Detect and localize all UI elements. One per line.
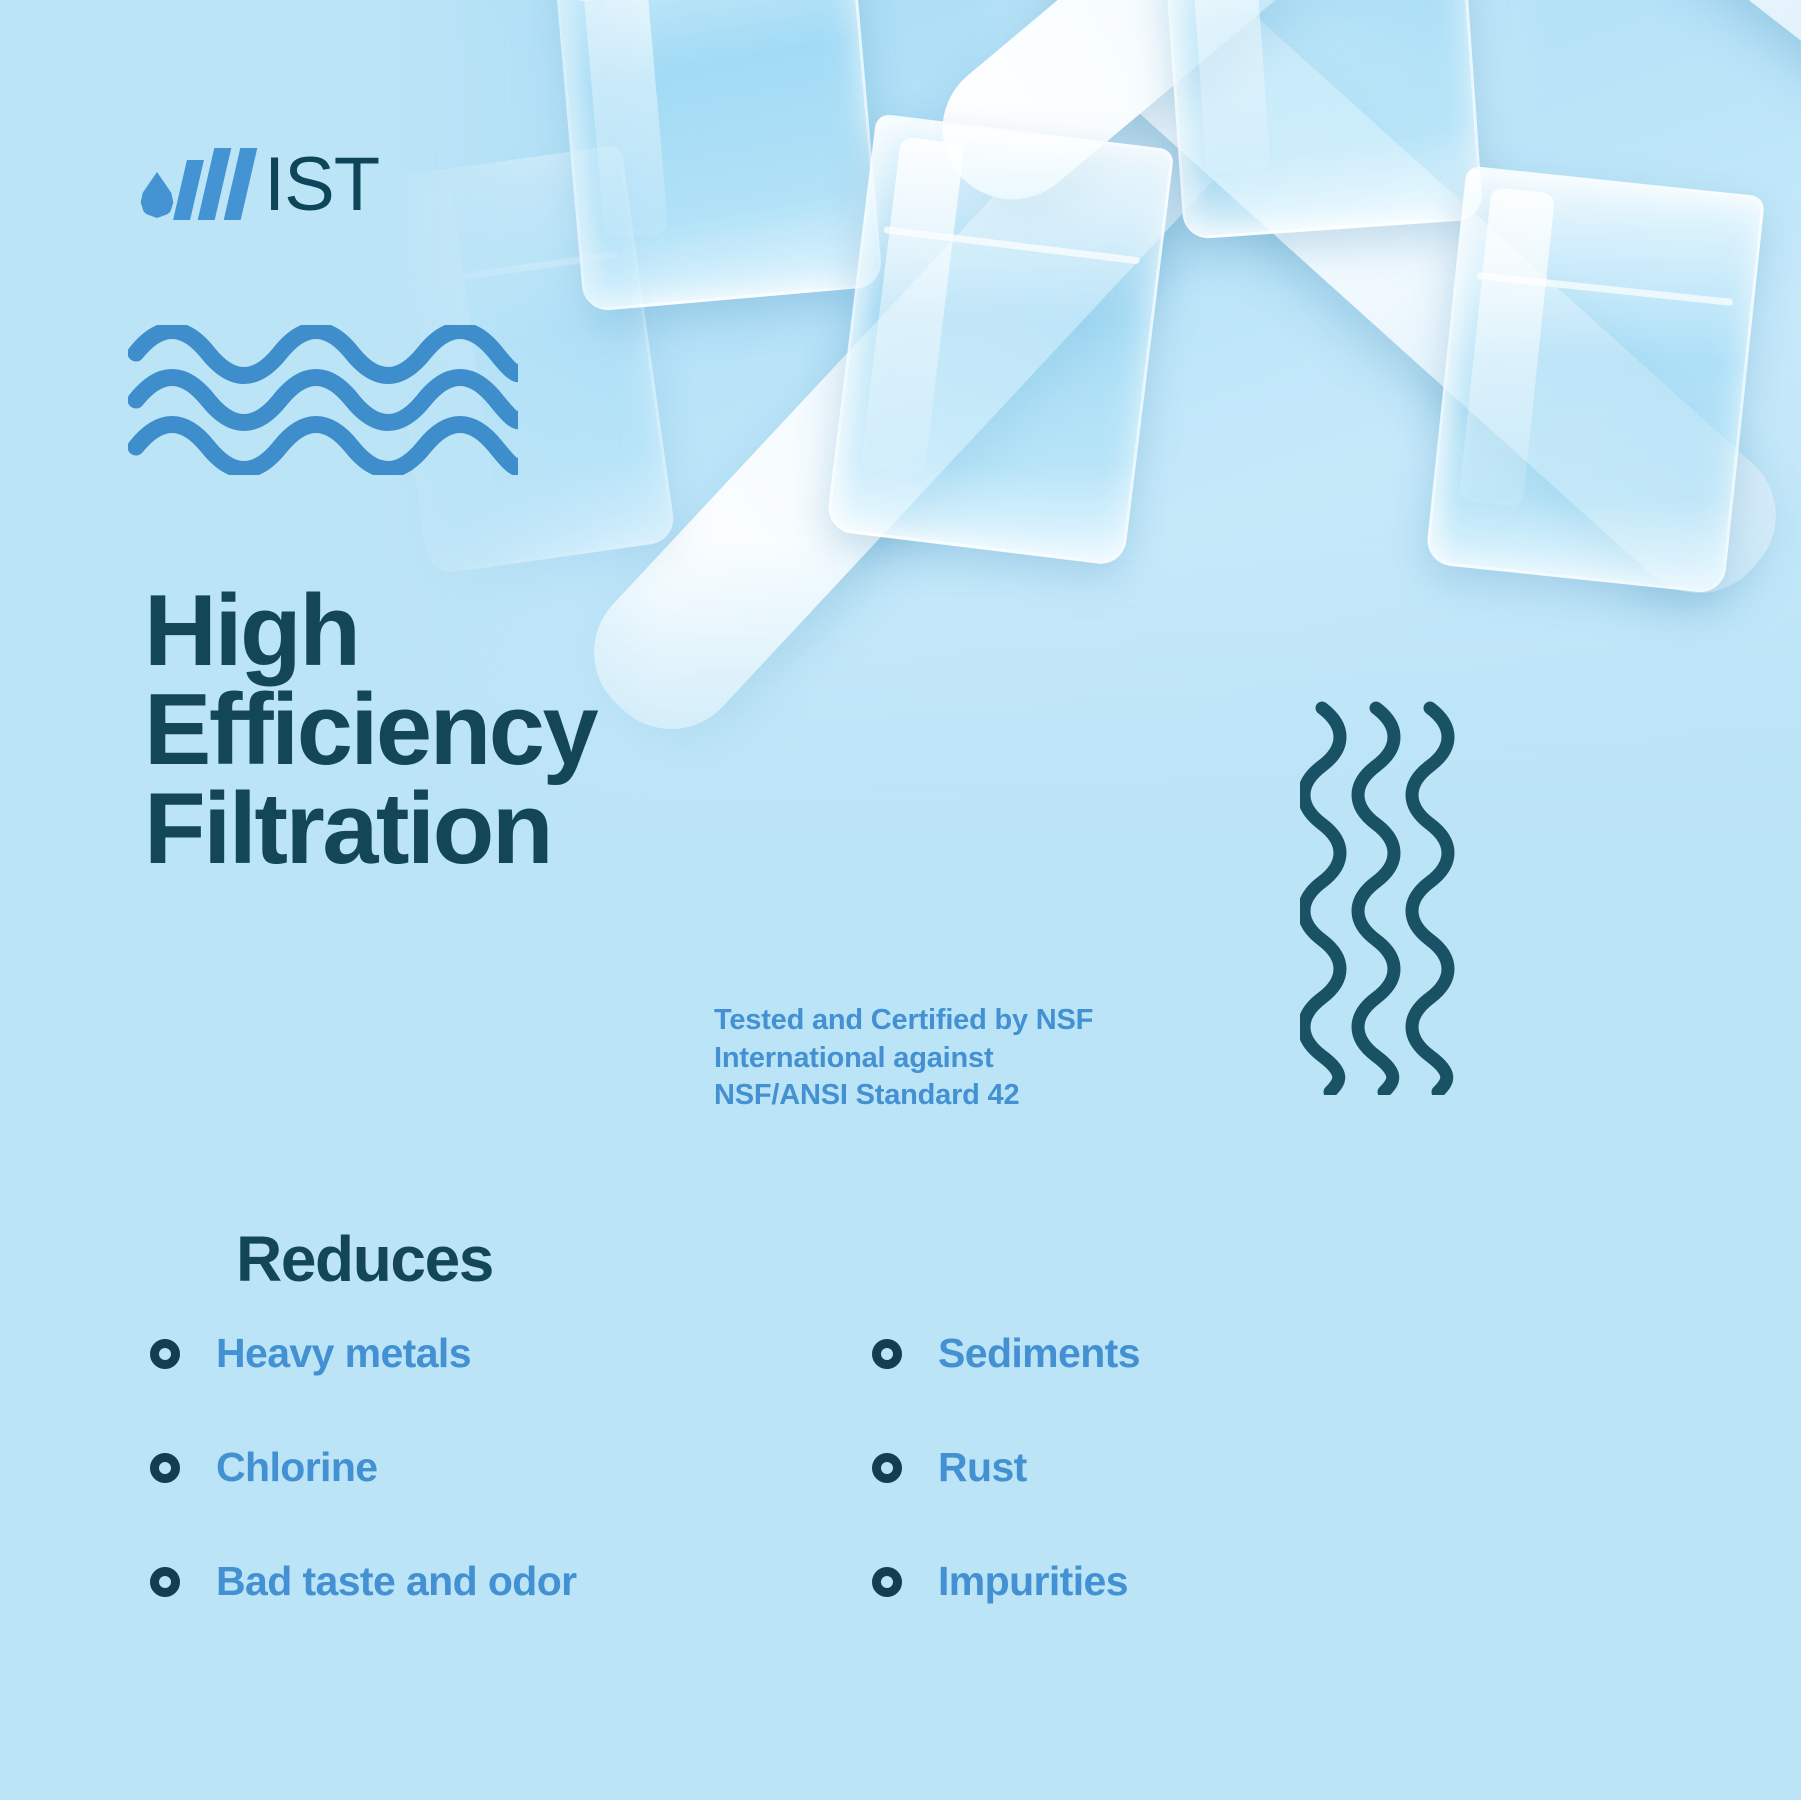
poster-canvas: IST High Efficiency Filtration Tested an… [0, 0, 1801, 1800]
list-item: Bad taste and odor [150, 1558, 840, 1605]
brand-wordmark: IST [264, 150, 379, 220]
ring-bullet-icon [872, 1453, 902, 1483]
ring-bullet-icon [150, 1453, 180, 1483]
list-item-label: Rust [938, 1444, 1027, 1491]
list-item-label: Chlorine [216, 1444, 377, 1491]
water-glass [1156, 0, 1483, 240]
ring-bullet-icon [872, 1567, 902, 1597]
list-item-label: Bad taste and odor [216, 1558, 577, 1605]
water-glass [826, 113, 1175, 566]
certification-text: Tested and Certified by NSF Internationa… [714, 1002, 1093, 1115]
water-drop-icon [140, 172, 174, 218]
horizontal-wave-lines-icon [128, 325, 518, 475]
list-item-label: Sediments [938, 1330, 1140, 1377]
water-glass [547, 0, 883, 312]
ring-bullet-icon [150, 1339, 180, 1369]
reduces-heading: Reduces [236, 1222, 493, 1296]
list-item: Impurities [840, 1558, 1450, 1605]
list-item-label: Heavy metals [216, 1330, 471, 1377]
brand-logo[interactable]: IST [140, 140, 379, 220]
list-item: Heavy metals [150, 1330, 840, 1377]
ring-bullet-icon [872, 1339, 902, 1369]
page-title: High Efficiency Filtration [144, 582, 596, 879]
three-slash-icon [180, 148, 258, 220]
list-item-label: Impurities [938, 1558, 1128, 1605]
list-item: Rust [840, 1444, 1450, 1491]
water-glass [1425, 165, 1765, 594]
list-item: Chlorine [150, 1444, 840, 1491]
ring-bullet-icon [150, 1567, 180, 1597]
reduces-list: Heavy metals Sediments Chlorine Rust Bad… [150, 1330, 1450, 1605]
list-item: Sediments [840, 1330, 1450, 1377]
vertical-squiggle-lines-icon [1300, 700, 1460, 1095]
